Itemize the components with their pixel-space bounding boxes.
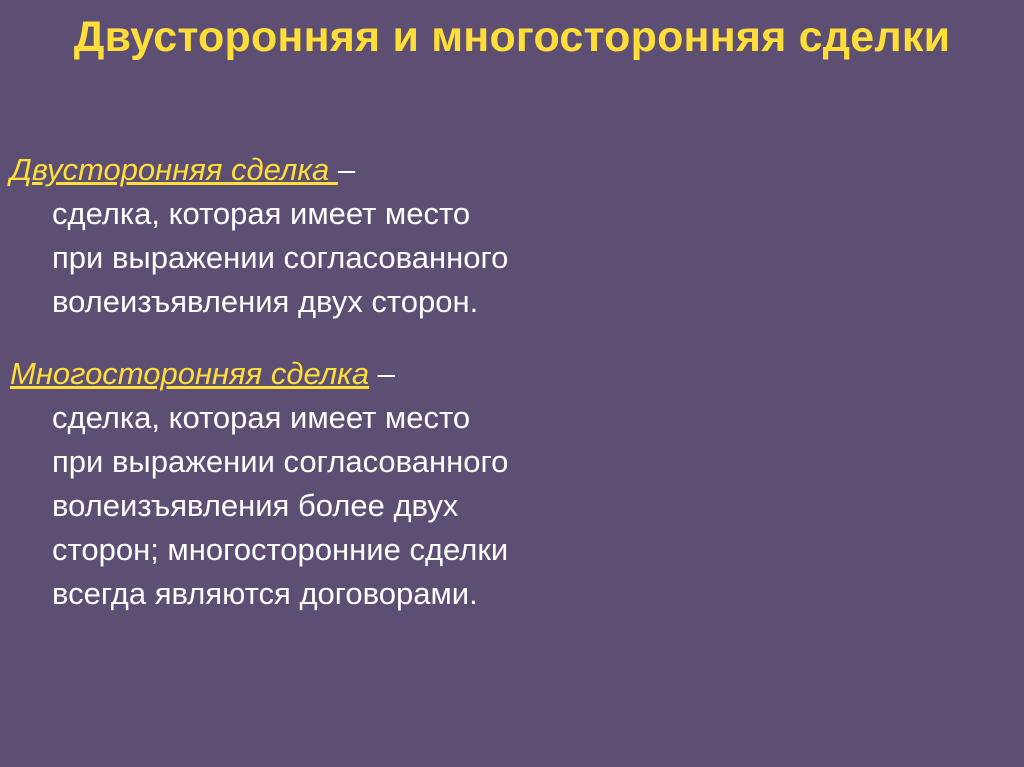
term-line-bilateral: Двусторонняя сделка –: [10, 148, 1014, 192]
body-line: волеизъявления двух сторон.: [10, 280, 1014, 324]
term-label-bilateral: Двусторонняя сделка: [10, 152, 338, 187]
definition-block-bilateral: Двусторонняя сделка – сделка, которая им…: [10, 148, 1014, 324]
body-line: сделка, которая имеет место: [10, 396, 1014, 440]
body-line: сторон; многосторонние сделки: [10, 528, 1014, 572]
body-line: при выражении согласованного: [10, 440, 1014, 484]
term-dash-bilateral: –: [338, 152, 355, 187]
slide-content: Двусторонняя сделка – сделка, которая им…: [10, 148, 1014, 622]
body-line: всегда являются договорами.: [10, 572, 1014, 616]
term-dash-multilateral: –: [369, 356, 395, 391]
term-line-multilateral: Многосторонняя сделка –: [10, 352, 1014, 396]
body-line: сделка, которая имеет место: [10, 192, 1014, 236]
slide: Двусторонняя и многосторонняя сделки Дву…: [0, 0, 1024, 767]
body-line: при выражении согласованного: [10, 236, 1014, 280]
definition-block-multilateral: Многосторонняя сделка – сделка, которая …: [10, 352, 1014, 616]
term-label-multilateral: Многосторонняя сделка: [10, 356, 369, 391]
page-title: Двусторонняя и многосторонняя сделки: [60, 10, 964, 65]
body-line: волеизъявления более двух: [10, 484, 1014, 528]
block-spacer: [10, 330, 1014, 352]
